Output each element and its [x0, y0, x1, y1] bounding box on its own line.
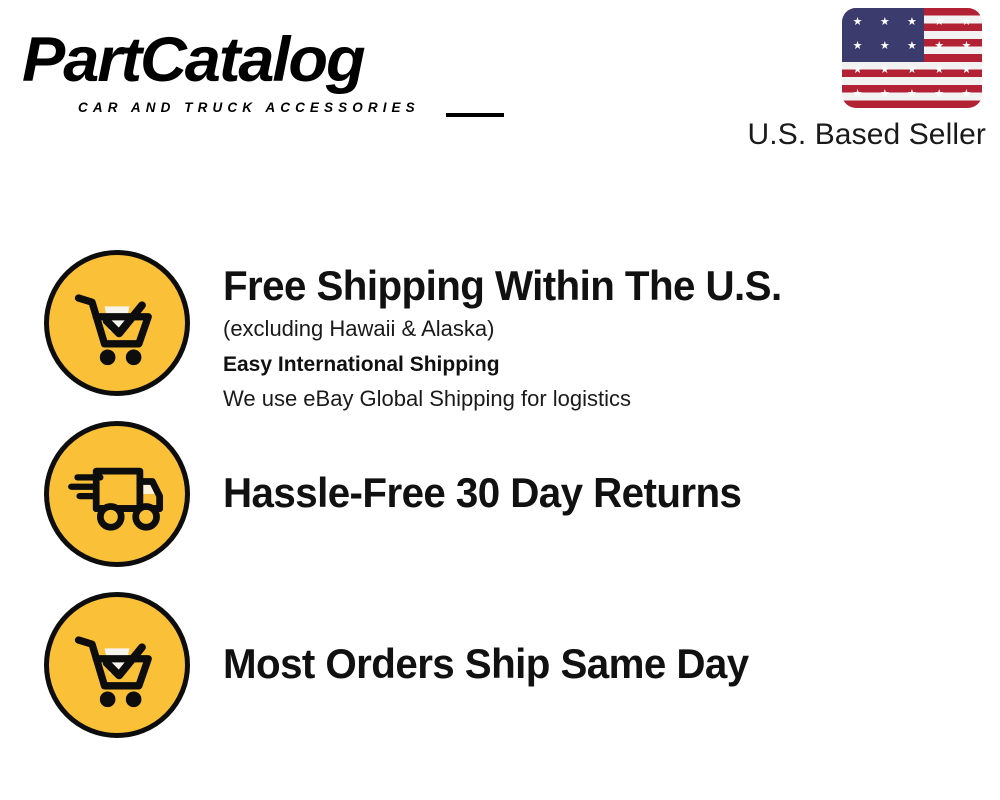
feature-text-block: Hassle-Free 30 Day Returns [223, 469, 963, 517]
brand-underline-rule [446, 113, 504, 117]
feature-title: Free Shipping Within The U.S. [223, 262, 933, 310]
feature-title: Hassle-Free 30 Day Returns [223, 469, 933, 517]
us-based-seller-label: U.S. Based Seller [748, 117, 986, 153]
brand-wordmark: PartCatalog [22, 24, 364, 96]
feature-row: Most Orders Ship Same Day [0, 592, 1000, 742]
feature-note: (excluding Hawaii & Alaska) [223, 314, 963, 344]
brand-logo[interactable]: PartCatalog CAR AND TRUCK ACCESSORIES [22, 24, 492, 119]
feature-text-block: Most Orders Ship Same Day [223, 640, 963, 688]
shopping-cart-check-icon [44, 250, 190, 396]
feature-row: Hassle-Free 30 Day Returns [0, 421, 1000, 571]
feature-sub-text: We use eBay Global Shipping for logistic… [223, 384, 963, 414]
feature-title: Most Orders Ship Same Day [223, 640, 933, 688]
us-flag-icon: ★★★★★ ★★★★★ ★★★★★ ★★★★★ [842, 8, 982, 108]
brand-tagline: CAR AND TRUCK ACCESSORIES [78, 100, 420, 115]
feature-row: Free Shipping Within The U.S. (excluding… [0, 250, 1000, 400]
flag-stars: ★★★★★ ★★★★★ ★★★★★ ★★★★★ [842, 8, 982, 108]
page-header: PartCatalog CAR AND TRUCK ACCESSORIES ★★… [0, 0, 1000, 170]
feature-text-block: Free Shipping Within The U.S. (excluding… [223, 262, 963, 414]
shopping-cart-check-icon [44, 592, 190, 738]
feature-sub-title: Easy International Shipping [223, 350, 963, 380]
delivery-truck-icon [44, 421, 190, 567]
